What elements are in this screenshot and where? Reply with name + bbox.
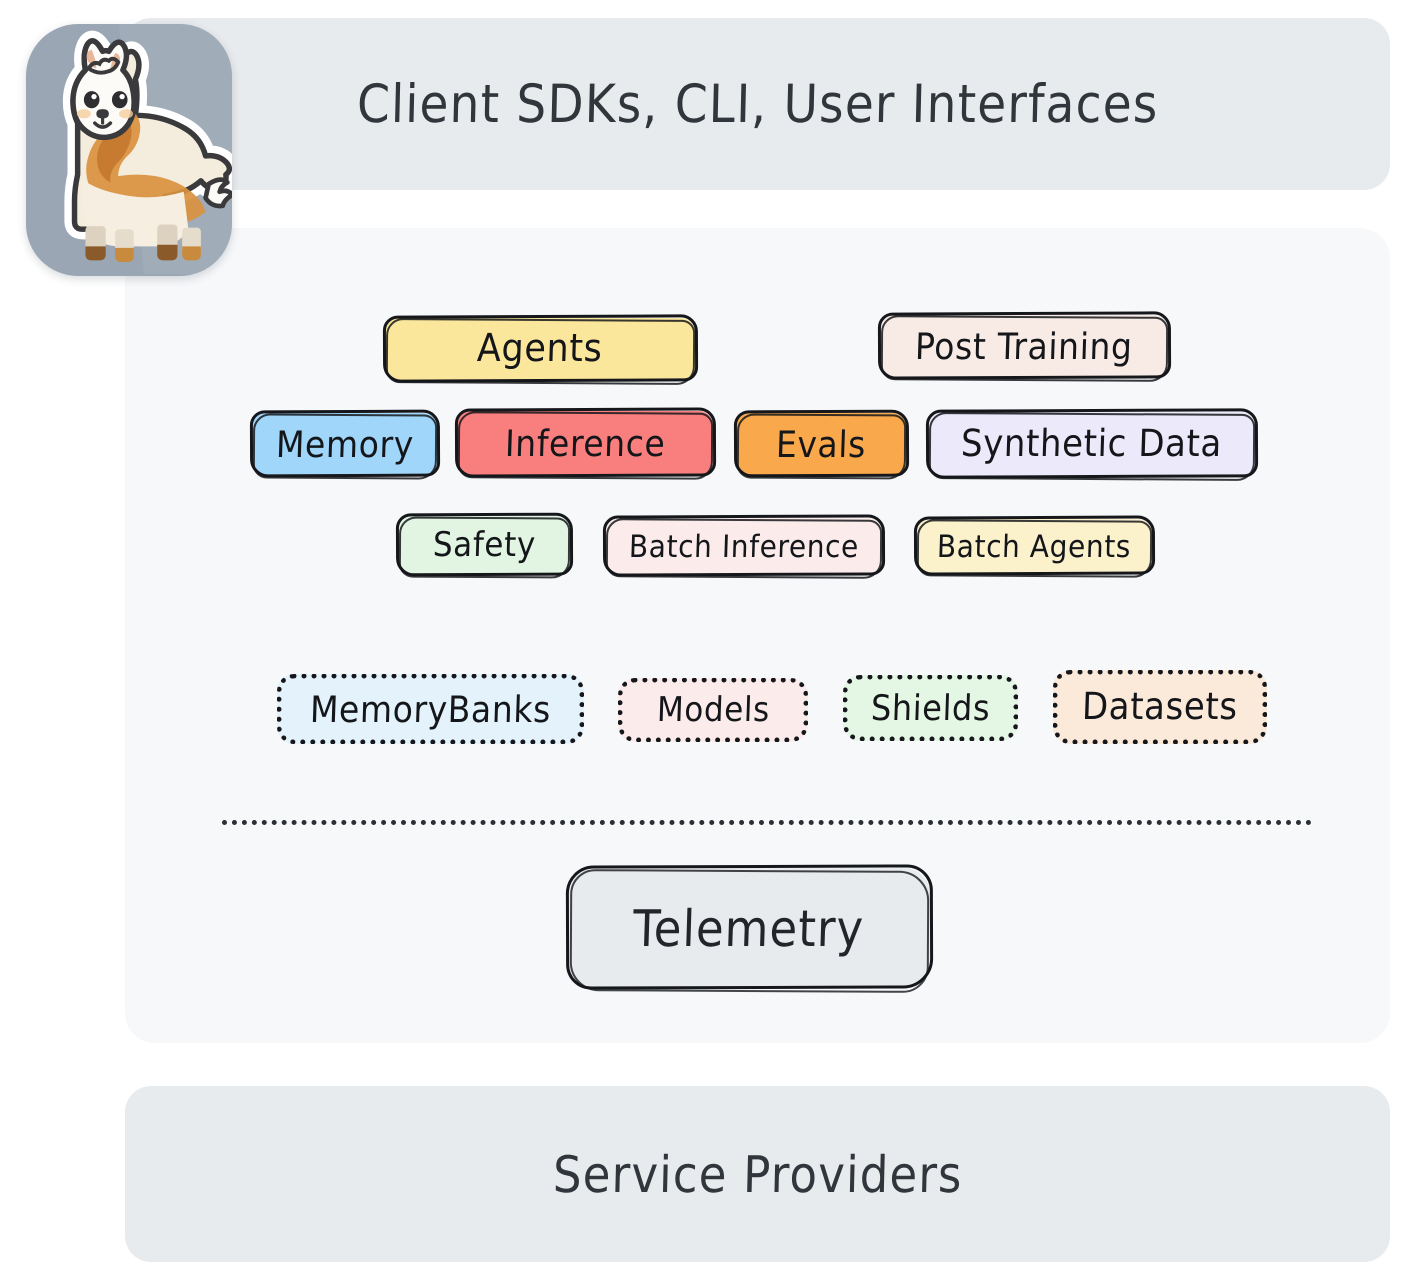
resource-box-models[interactable]: Models [618, 678, 808, 742]
api-box-label: Batch Inference [628, 528, 859, 564]
resource-box-datasets[interactable]: Datasets [1053, 670, 1267, 744]
api-box-label: Inference [504, 422, 666, 465]
page-title: Client SDKs, CLI, User Interfaces [356, 73, 1159, 135]
resource-box-label: MemoryBanks [309, 688, 551, 731]
llama-logo [26, 24, 232, 276]
api-box-label: Evals [775, 423, 866, 466]
resource-box-shields[interactable]: Shields [843, 675, 1018, 741]
api-box-evals[interactable]: Evals [736, 413, 906, 475]
resource-box-label: Shields [870, 687, 991, 729]
api-box-batch-inference[interactable]: Batch Inference [605, 518, 882, 574]
telemetry-label: Telemetry [633, 898, 866, 957]
api-box-inference[interactable]: Inference [457, 411, 713, 475]
api-box-post-training[interactable]: Post Training [880, 315, 1168, 377]
api-box-safety[interactable]: Safety [398, 516, 570, 574]
llama-icon [26, 24, 232, 276]
api-box-label: Memory [275, 423, 414, 466]
api-box-label: Batch Agents [936, 528, 1131, 564]
api-box-label: Synthetic Data [960, 422, 1222, 466]
api-box-label: Agents [477, 327, 604, 371]
api-box-memory[interactable]: Memory [252, 413, 437, 475]
resource-box-memorybanks[interactable]: MemoryBanks [277, 674, 584, 744]
service-providers-panel: Service Providers [125, 1086, 1390, 1262]
resource-box-label: Models [656, 690, 770, 730]
api-box-label: Safety [432, 525, 536, 565]
api-box-batch-agents[interactable]: Batch Agents [916, 519, 1152, 573]
resource-box-label: Datasets [1081, 685, 1238, 729]
dotted-divider [222, 820, 1312, 825]
api-box-label: Post Training [915, 325, 1134, 368]
api-box-synthetic-data[interactable]: Synthetic Data [928, 412, 1255, 476]
api-box-agents[interactable]: Agents [385, 318, 695, 380]
service-providers-title: Service Providers [552, 1144, 963, 1203]
client-interfaces-panel: Client SDKs, CLI, User Interfaces [125, 18, 1390, 190]
telemetry-box[interactable]: Telemetry [568, 868, 930, 988]
